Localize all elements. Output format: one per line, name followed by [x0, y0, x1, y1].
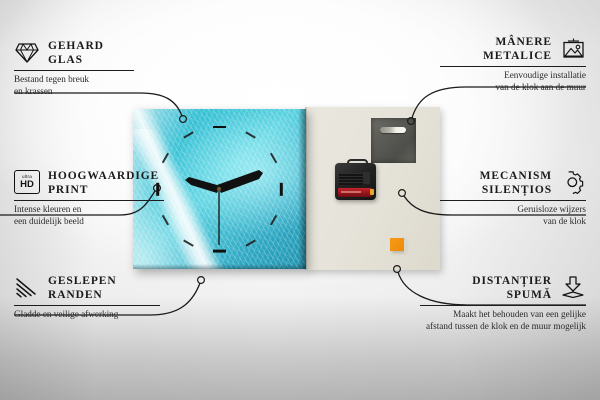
connector-dot-gehard-glas — [180, 116, 187, 123]
feature-title: DISTANȚIER SPUMĂ — [472, 275, 552, 302]
connector-dot-distantier-spuma — [394, 266, 401, 273]
feature-manere-metalice: MÂNERE METALICE Eenvoudige installatie v… — [440, 36, 586, 93]
feature-rule — [14, 305, 160, 306]
feature-subtitle: Bestand tegen breuk en krassen — [14, 74, 134, 97]
feature-rule — [440, 200, 586, 201]
ultra-hd-large-label: HD — [20, 180, 34, 190]
feature-hoogwaardige-print: ultra HD HOOGWAARDIGE PRINT Intense kleu… — [14, 170, 164, 227]
feature-title: MÂNERE METALICE — [483, 36, 552, 63]
feature-title: GESLEPEN RANDEN — [48, 275, 117, 302]
feature-title: HOOGWAARDIGE PRINT — [48, 170, 159, 197]
spacer-arrow-icon — [560, 275, 586, 299]
connector-dot-mecanism-silentios — [399, 190, 406, 197]
feature-title: MECANISM SILENȚIOS — [480, 170, 552, 197]
product-infographic: GEHARD GLAS Bestand tegen breuk en krass… — [0, 0, 600, 400]
feature-rule — [420, 305, 586, 306]
feature-distantier-spuma: DISTANȚIER SPUMĂ Maakt het behouden van … — [420, 275, 586, 332]
diamond-icon — [14, 40, 40, 64]
feature-geslepen-randen: GESLEPEN RANDEN Gladde en veilige afwerk… — [14, 275, 160, 321]
feature-subtitle: Eenvoudige installatie van de klok aan d… — [440, 70, 586, 93]
beveled-edge-icon — [14, 275, 40, 299]
feature-subtitle: Gladde en veilige afwerking — [14, 309, 160, 321]
feature-rule — [440, 66, 586, 67]
connector-dot-manere-metalice — [408, 118, 415, 125]
feature-gehard-glas: GEHARD GLAS Bestand tegen breuk en krass… — [14, 40, 134, 97]
feature-subtitle: Geruisloze wijzers van de klok — [440, 204, 586, 227]
feature-rule — [14, 70, 134, 71]
gear-icon — [560, 170, 586, 194]
picture-frame-icon — [560, 36, 586, 60]
feature-title: GEHARD GLAS — [48, 40, 104, 67]
connector-dot-geslepen-randen — [198, 277, 205, 284]
feature-subtitle: Maakt het behouden van een gelijke afsta… — [420, 309, 586, 332]
feature-subtitle: Intense kleuren en een duidelijk beeld — [14, 204, 164, 227]
ultra-hd-icon: ultra HD — [14, 170, 40, 194]
feature-rule — [14, 200, 164, 201]
feature-mecanism-silentios: MECANISM SILENȚIOS Geruisloze wijzers va… — [440, 170, 586, 227]
